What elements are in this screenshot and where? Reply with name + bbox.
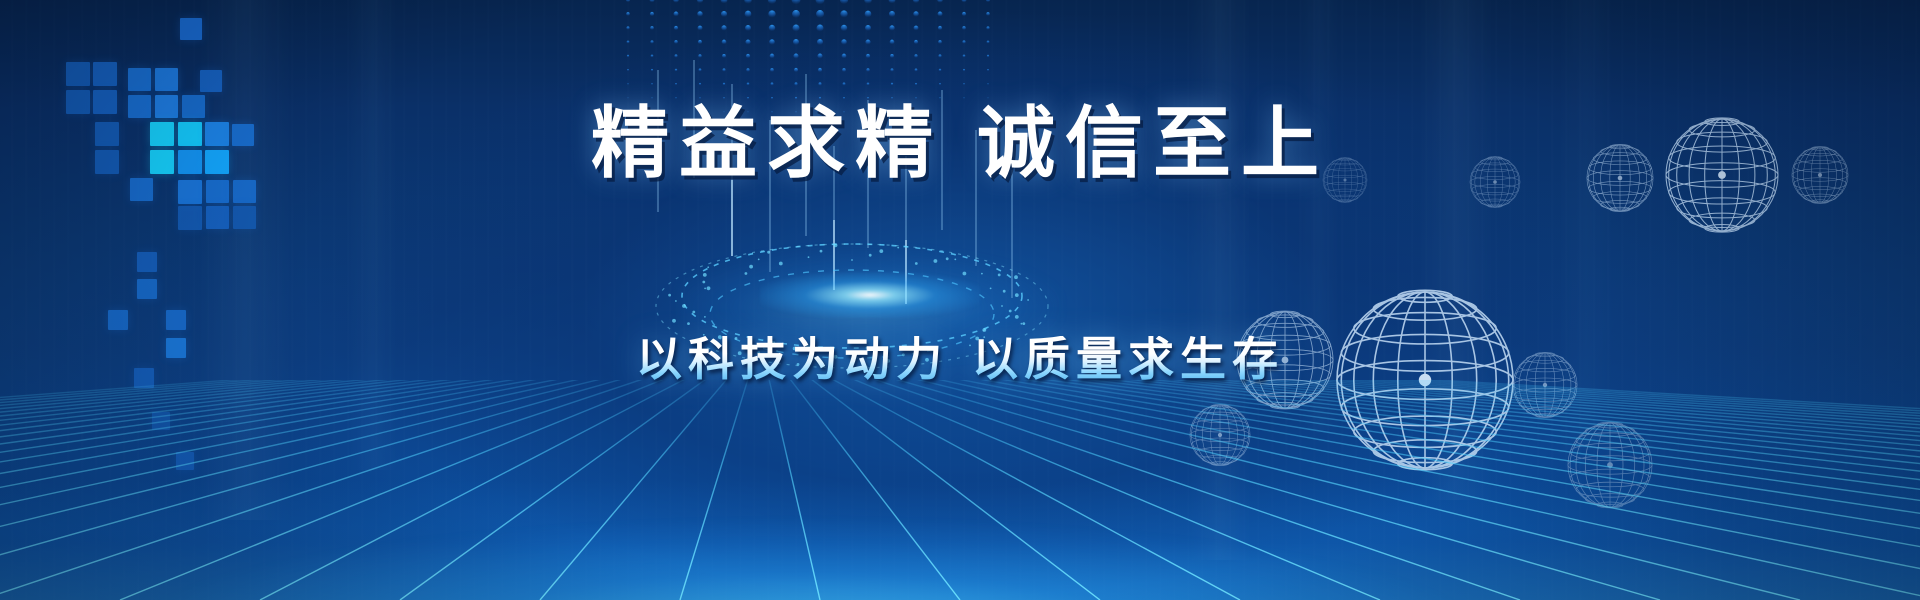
hero-banner: 精益求精诚信至上 以科技为动力以质量求生存 bbox=[0, 0, 1920, 600]
mosaic-pixel bbox=[233, 206, 256, 229]
headline-part-2: 诚信至上 bbox=[977, 99, 1329, 187]
mosaic-pixel bbox=[137, 252, 157, 272]
mosaic-pixel bbox=[93, 62, 117, 86]
mosaic-pixel bbox=[206, 180, 229, 203]
perspective-grid-floor bbox=[0, 380, 1920, 600]
scanline-overlay bbox=[0, 0, 1920, 600]
mosaic-pixel bbox=[178, 180, 202, 204]
mosaic-pixel bbox=[166, 310, 186, 330]
wireframe-globes bbox=[0, 0, 1920, 600]
mosaic-pixel bbox=[176, 452, 194, 470]
light-streaks bbox=[0, 0, 1920, 600]
headline-part-1: 精益求精 bbox=[591, 99, 943, 187]
mosaic-pixel bbox=[66, 62, 90, 86]
mosaic-pixel bbox=[200, 70, 222, 92]
mosaic-pixel bbox=[108, 310, 128, 330]
mosaic-pixel bbox=[178, 206, 202, 230]
mosaic-pixel bbox=[128, 68, 151, 91]
subtitle-part-2: 以质量求生存 bbox=[972, 333, 1284, 385]
mosaic-pixel bbox=[152, 412, 170, 430]
mosaic-pixel bbox=[155, 68, 178, 91]
banner-subtitle: 以科技为动力以质量求生存 bbox=[0, 336, 1920, 382]
mosaic-pixel bbox=[180, 18, 202, 40]
mosaic-pixel bbox=[206, 206, 229, 229]
mosaic-pixel bbox=[137, 279, 157, 299]
pixel-mosaic-left-lower bbox=[0, 0, 320, 500]
mosaic-pixel bbox=[233, 180, 256, 203]
subtitle-part-1: 以科技为动力 bbox=[636, 333, 948, 385]
vignette-overlay bbox=[0, 0, 1920, 600]
banner-headline: 精益求精诚信至上 bbox=[0, 104, 1920, 182]
light-burst-core-icon bbox=[640, 210, 1060, 420]
